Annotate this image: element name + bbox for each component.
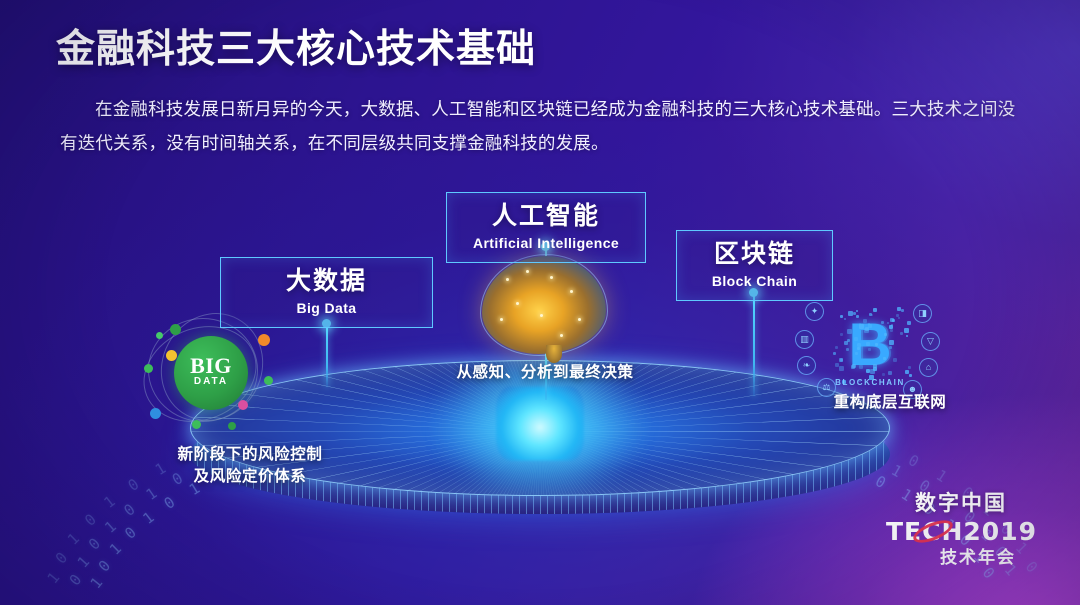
slide-canvas: 1010101010101010101010101010101001010101… bbox=[0, 0, 1080, 605]
caption-big-data: 新阶段下的风险控制 及风险定价体系 bbox=[105, 444, 395, 488]
brain-outline bbox=[480, 254, 608, 356]
synapse-dot-icon bbox=[578, 318, 581, 321]
caption-line-1: 新阶段下的风险控制 bbox=[105, 444, 395, 466]
node-dot-blue-icon bbox=[150, 408, 161, 419]
pillar-title-en: Block Chain bbox=[677, 273, 832, 289]
caption-artificial-intelligence: 从感知、分析到最终决策 bbox=[425, 362, 665, 384]
pillar-box-big-data[interactable]: 大数据 Big Data bbox=[220, 257, 433, 328]
event-logo: 数字中国 TECH2019 技术年会 bbox=[886, 491, 1036, 583]
node-dot-icon bbox=[228, 422, 236, 430]
big-data-badge: BIG DATA bbox=[174, 336, 248, 410]
pillar-title-cn: 区块链 bbox=[677, 240, 832, 270]
node-dot-icon bbox=[144, 364, 153, 373]
big-data-badge-secondary: DATA bbox=[174, 376, 248, 387]
node-dot-icon bbox=[264, 376, 273, 385]
node-dot-icon bbox=[156, 332, 163, 339]
connector-big-data bbox=[326, 323, 328, 387]
pillar-box-block-chain[interactable]: 区块链 Block Chain bbox=[676, 230, 833, 301]
pillar-title-en: Artificial Intelligence bbox=[447, 235, 645, 251]
pillar-title-cn: 大数据 bbox=[221, 267, 432, 297]
caption-line-1: 重构底层互联网 bbox=[800, 392, 980, 414]
pillar-box-artificial-intelligence[interactable]: 人工智能 Artificial Intelligence bbox=[446, 192, 646, 263]
download-node-icon: ▽ bbox=[921, 332, 940, 351]
big-data-icon-cluster: BIG DATA bbox=[140, 312, 280, 434]
caption-block-chain: 重构底层互联网 bbox=[800, 392, 980, 414]
leaf-node-icon: ❧ bbox=[797, 356, 816, 375]
synapse-dot-icon bbox=[516, 302, 519, 305]
synapse-dot-icon bbox=[506, 278, 509, 281]
connector-block-chain bbox=[753, 292, 755, 396]
logo-line-3: 技术年会 bbox=[920, 547, 1036, 569]
block-chain-icon-cluster: B BLOCKCHAIN ✦ ◨ ▥ ▽ ❧ ⌂ ⚖ ☻ bbox=[795, 300, 945, 402]
synapse-dot-icon bbox=[526, 270, 529, 273]
synapse-dot-icon bbox=[550, 276, 553, 279]
home-node-icon: ⌂ bbox=[919, 358, 938, 377]
pillar-title-en: Big Data bbox=[221, 300, 432, 316]
node-dot-icon bbox=[192, 420, 201, 429]
logo-line-1: 数字中国 bbox=[886, 491, 1036, 517]
node-dot-icon bbox=[170, 324, 181, 335]
node-dot-orange-icon bbox=[258, 334, 270, 346]
node-dot-yellow-icon bbox=[166, 350, 177, 361]
caption-line-2: 及风险定价体系 bbox=[105, 466, 395, 488]
caption-line-1: 从感知、分析到最终决策 bbox=[425, 362, 665, 384]
brain-icon bbox=[482, 256, 606, 354]
logo-wordmark: TECH2019 bbox=[886, 517, 1037, 546]
page-title: 金融科技三大核心技术基础 bbox=[56, 18, 536, 74]
chart-node-icon: ◨ bbox=[913, 304, 932, 323]
node-dot-pink-icon bbox=[238, 400, 248, 410]
synapse-dot-icon bbox=[500, 318, 503, 321]
network-node-icon: ✦ bbox=[805, 302, 824, 321]
logo-line-2: TECH2019 bbox=[886, 517, 1036, 547]
synapse-dot-icon bbox=[540, 314, 543, 317]
synapse-dot-icon bbox=[560, 334, 563, 337]
synapse-dot-icon bbox=[570, 290, 573, 293]
bank-node-icon: ▥ bbox=[795, 330, 814, 349]
intro-paragraph: 在金融科技发展日新月异的今天，大数据、人工智能和区块链已经成为金融科技的三大核心… bbox=[60, 92, 1020, 160]
pillar-title-cn: 人工智能 bbox=[447, 202, 645, 232]
